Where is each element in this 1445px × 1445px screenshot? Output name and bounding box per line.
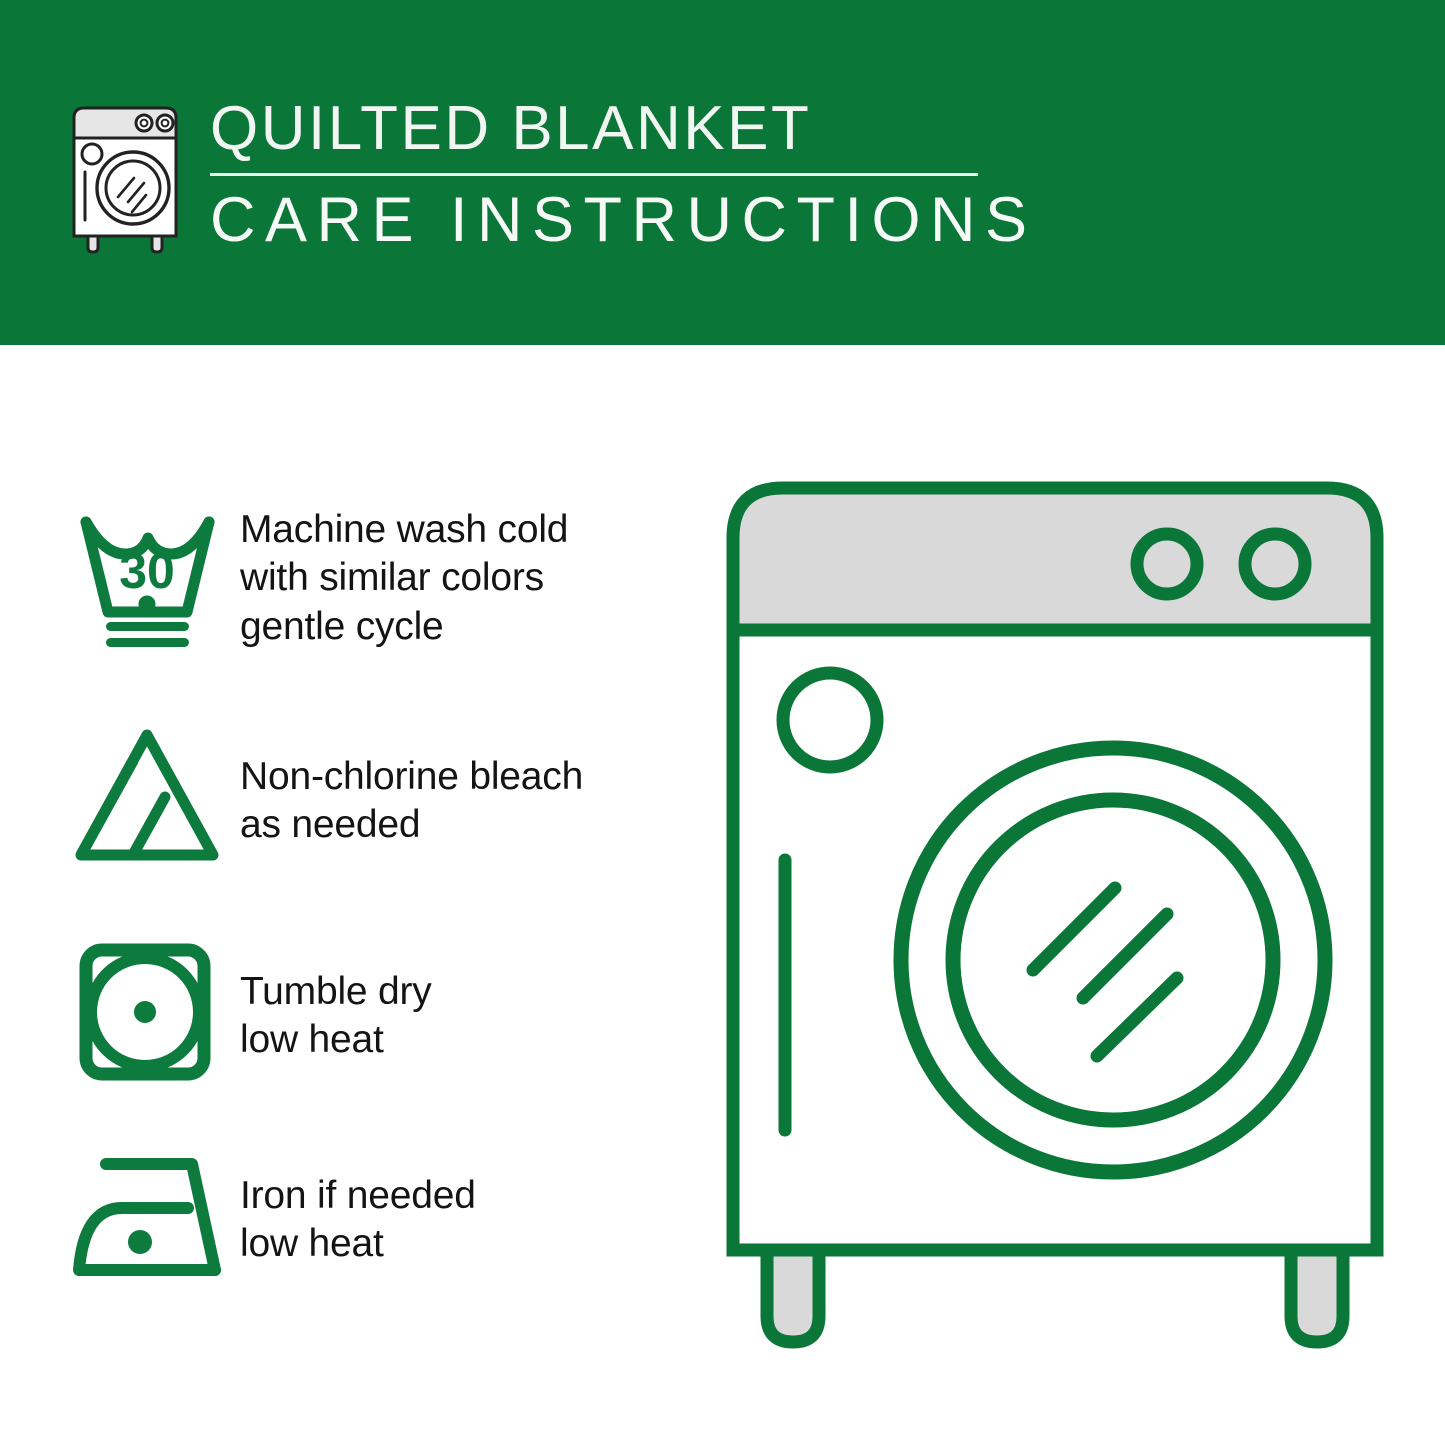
care-text-bleach: Non-chlorine bleach as needed [240, 725, 583, 850]
knob-left [1137, 534, 1197, 594]
care-line: gentle cycle [240, 603, 568, 651]
care-symbol-slot [70, 940, 240, 1085]
wash-basin-30-gentle-icon: 30 [70, 500, 225, 650]
bleach-stripe-1 [82, 761, 133, 853]
care-instructions-page: QUILTED BLANKET CARE INSTRUCTIONS 30 [0, 0, 1445, 1445]
care-row-iron: Iron if needed low heat [70, 1150, 690, 1285]
iron-low-heat-icon [70, 1150, 240, 1285]
page-title: QUILTED BLANKET [210, 96, 1037, 161]
care-line: low heat [240, 1220, 476, 1268]
page-subtitle: CARE INSTRUCTIONS [210, 187, 1037, 253]
wash-temperature-label: 30 [119, 543, 175, 599]
knob-right [1245, 534, 1305, 594]
care-line: Non-chlorine bleach [240, 753, 583, 801]
header-band: QUILTED BLANKET CARE INSTRUCTIONS [0, 0, 1445, 345]
care-symbol-slot [70, 725, 240, 870]
care-line: Machine wash cold [240, 506, 568, 554]
care-text-tumble-dry: Tumble dry low heat [240, 940, 432, 1065]
wash-dot [139, 596, 156, 613]
care-line: with similar colors [240, 554, 568, 602]
gentle-bar-1 [106, 622, 189, 631]
care-symbol-slot: 30 [70, 500, 240, 650]
bleach-stripe-2 [134, 797, 165, 853]
washing-machine-illustration [715, 470, 1395, 1370]
title-divider [210, 173, 978, 176]
gentle-bar-2 [106, 638, 189, 647]
header-content: QUILTED BLANKET CARE INSTRUCTIONS [66, 96, 1037, 254]
non-chlorine-bleach-triangle-icon [70, 725, 225, 870]
tumble-dry-dot [134, 1001, 156, 1023]
care-line: Tumble dry [240, 968, 432, 1016]
detergent-dispenser [783, 673, 877, 767]
care-text-machine-wash: Machine wash cold with similar colors ge… [240, 500, 568, 651]
iron-dot [128, 1230, 152, 1254]
washing-machine-icon [66, 102, 184, 254]
care-row-bleach: Non-chlorine bleach as needed [70, 725, 690, 870]
care-line: Iron if needed [240, 1172, 476, 1220]
care-text-iron: Iron if needed low heat [240, 1150, 476, 1269]
care-instruction-list: 30 Machine wash cold with similar colors… [0, 345, 700, 1445]
care-line: low heat [240, 1016, 432, 1064]
care-symbol-slot [70, 1150, 240, 1285]
tumble-dry-low-icon [70, 940, 220, 1085]
care-row-tumble-dry: Tumble dry low heat [70, 940, 690, 1085]
care-row-machine-wash: 30 Machine wash cold with similar colors… [70, 500, 690, 651]
header-title-block: QUILTED BLANKET CARE INSTRUCTIONS [210, 96, 1037, 253]
care-line: as needed [240, 801, 583, 849]
